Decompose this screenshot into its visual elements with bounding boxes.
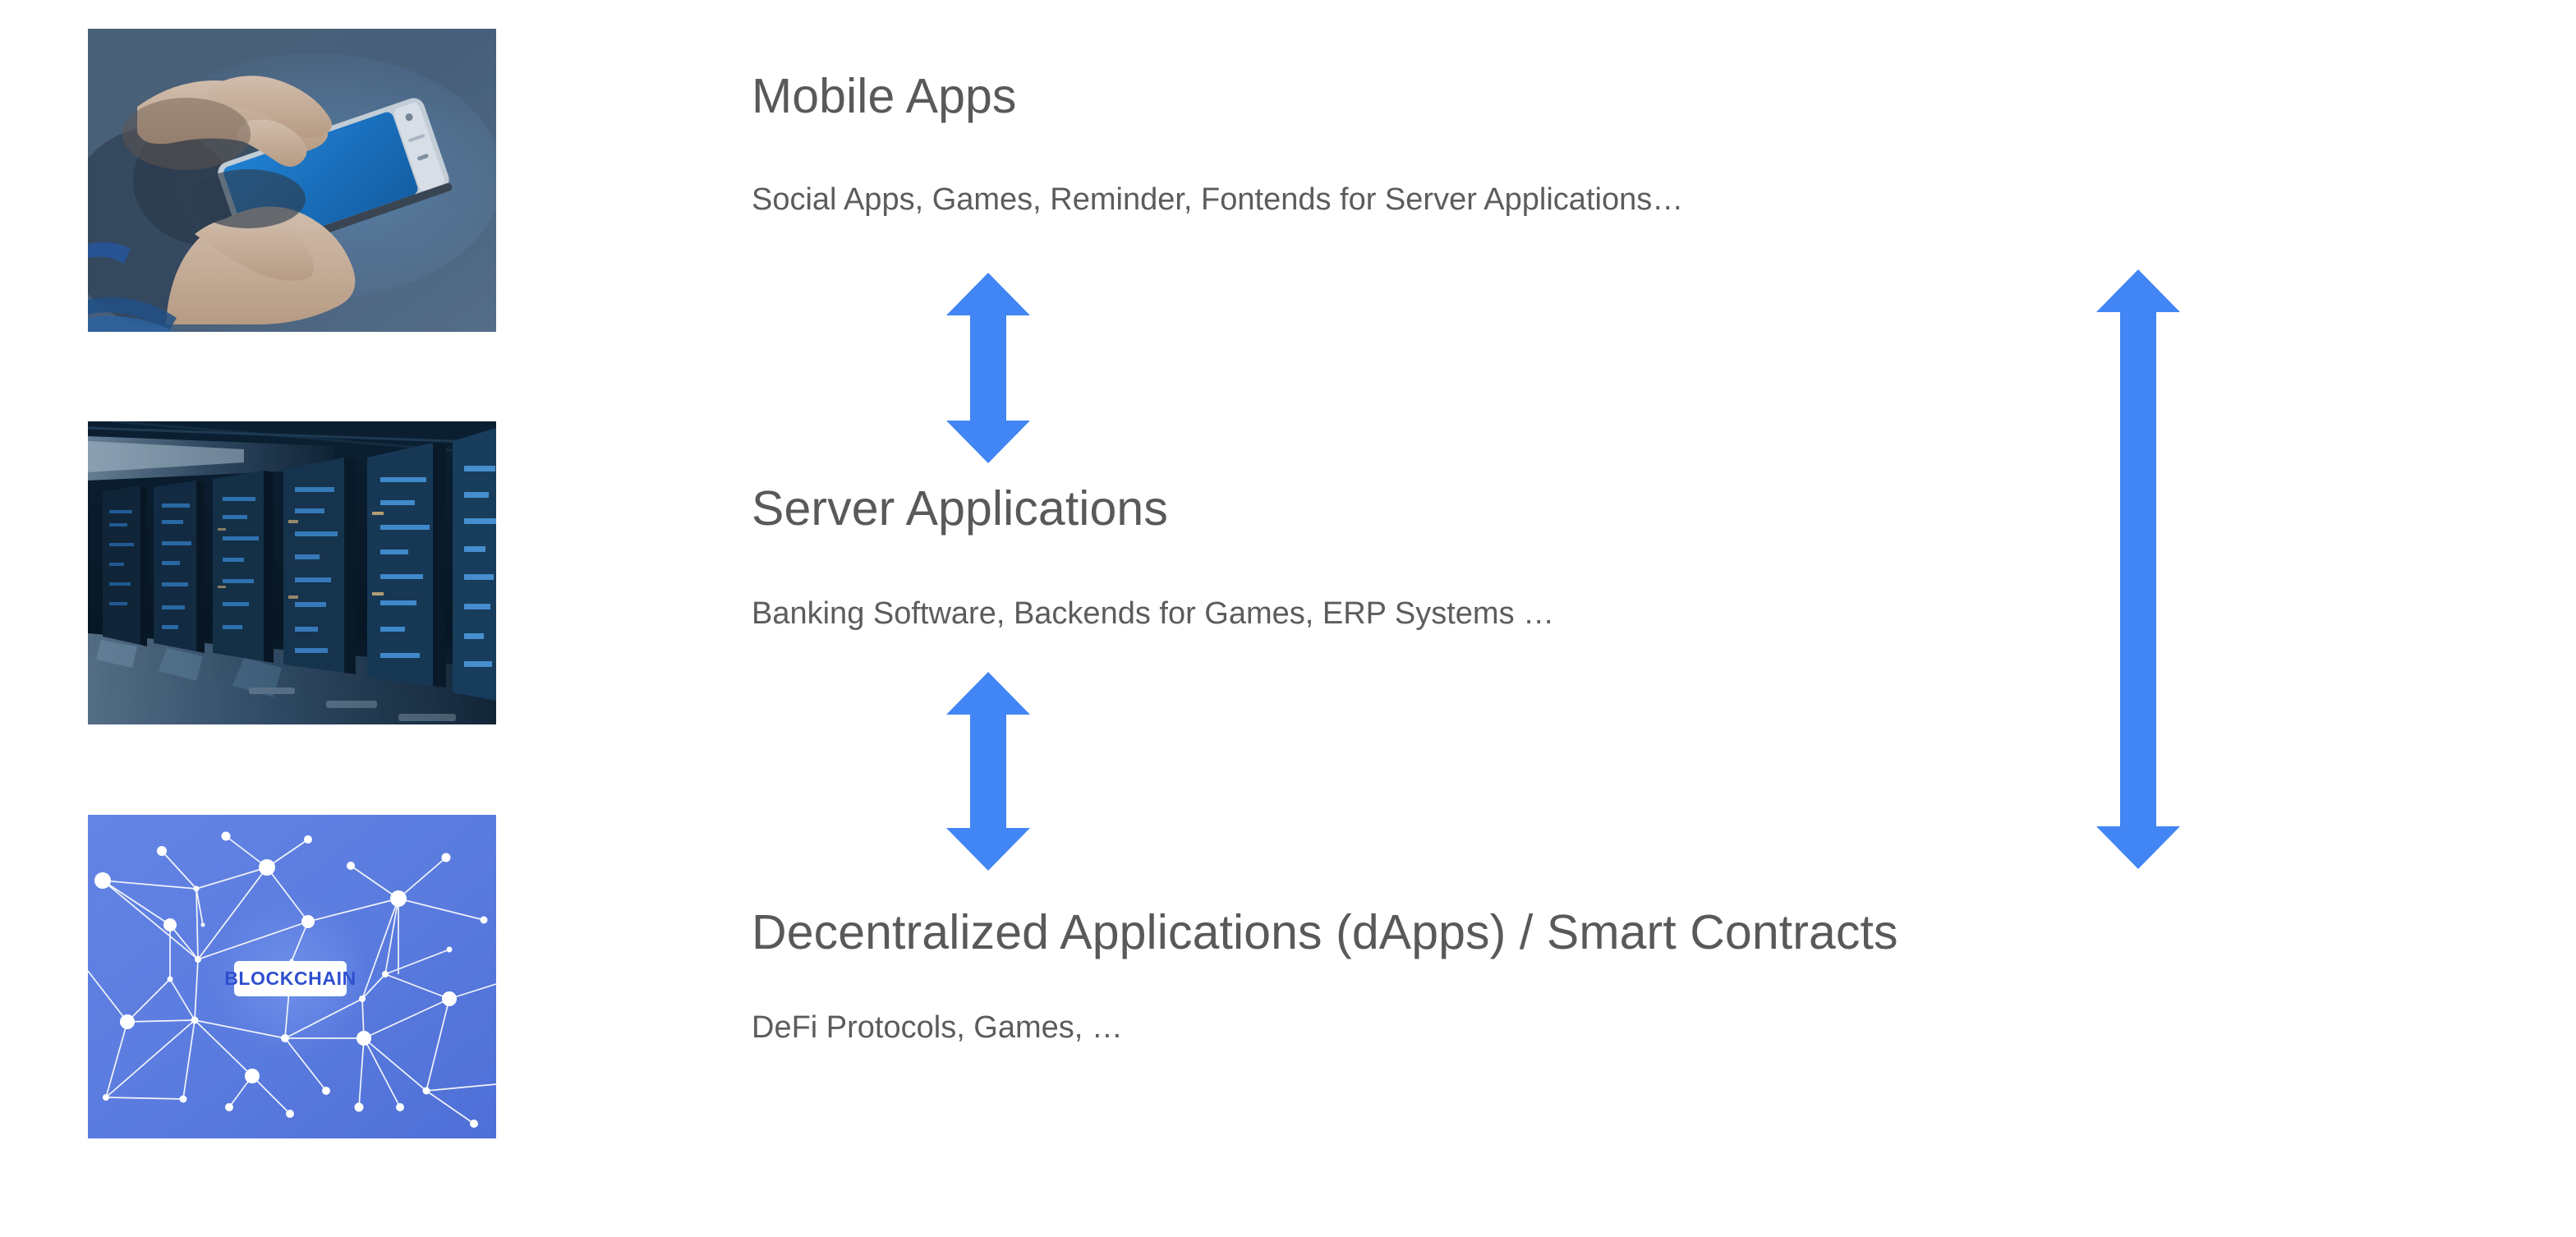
blockchain-network-graphic: BLOCKCHAIN bbox=[88, 815, 496, 1138]
row-subtitle-mobile-apps: Social Apps, Games, Reminder, Fontends f… bbox=[752, 184, 1683, 215]
server-room-photo bbox=[88, 421, 496, 724]
row-title-decentralized-applications: Decentralized Applications (dApps) / Sma… bbox=[752, 908, 1898, 957]
mobile-apps-photo bbox=[88, 29, 496, 332]
row-title-mobile-apps: Mobile Apps bbox=[752, 72, 1017, 121]
blockchain-label: BLOCKCHAIN bbox=[224, 968, 356, 989]
slide-canvas: Mobile Apps Social Apps, Games, Reminder… bbox=[0, 0, 2576, 1237]
row-subtitle-server-applications: Banking Software, Backends for Games, ER… bbox=[752, 598, 1554, 629]
arrow-mobile-to-server-icon bbox=[946, 273, 1030, 463]
row-subtitle-decentralized-applications: DeFi Protocols, Games, … bbox=[752, 1012, 1123, 1043]
row-title-server-applications: Server Applications bbox=[752, 485, 1168, 533]
arrow-mobile-to-dapps-icon bbox=[2096, 269, 2180, 869]
arrow-server-to-dapps-icon bbox=[946, 672, 1030, 871]
